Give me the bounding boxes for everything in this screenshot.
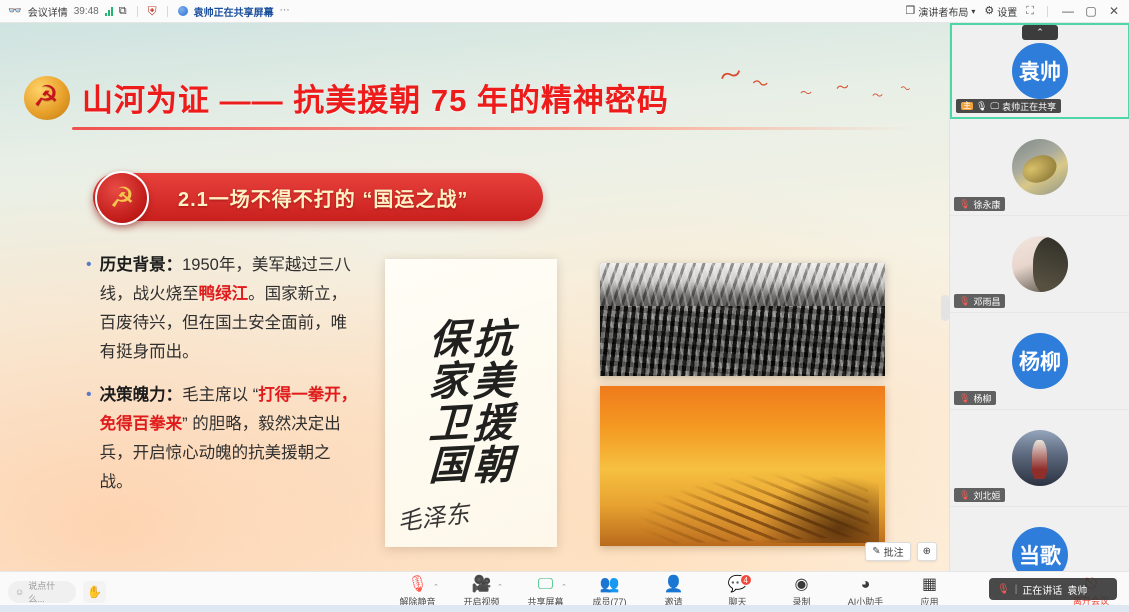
chat-unread-badge: 4 (740, 574, 752, 586)
title-bar-right: ❐ 演讲者布局 ▾ ⚙ 设置 ⛶ — ▢ ✕ (906, 4, 1129, 19)
section-banner: 2.1一场不得不打的 “国运之战” (93, 173, 543, 221)
participant-name-chip: 🎙 刘北姮 (954, 488, 1005, 502)
participant-rail[interactable]: 徐永康 +8619802181899 徐永康 +8619802181899 徐永… (949, 23, 1129, 583)
popout-window-icon[interactable]: ⧉ (119, 6, 127, 17)
divider (1047, 6, 1048, 17)
zoom-button[interactable]: ⊕ (917, 542, 937, 561)
participant-name-chip: 🎙 徐永康 (954, 197, 1005, 211)
slide-title: 山河为证 —— 抗美援朝 75 年的精神密码 (82, 75, 669, 120)
list-item: • 决策魄力：毛主席以 “打得一拳开，免得百拳来” 的胆略，毅然决定出兵，开启惊… (86, 381, 358, 497)
host-badge-icon: 主 (961, 102, 973, 110)
taskbar-strip (0, 605, 1129, 612)
mic-muted-icon: 🎙 (959, 491, 970, 500)
participant-name-chip: 🎙 杨柳 (954, 391, 996, 405)
share-active-icon[interactable]: ⛨ (148, 5, 157, 17)
mic-muted-icon: 🎙 (407, 575, 427, 594)
settings-label: 设置 (997, 4, 1017, 19)
layout-icon: ❐ (906, 6, 916, 17)
layout-label: 演讲者布局 (918, 4, 968, 19)
annotation-controls: ✎ 批注 ⊕ (865, 542, 937, 561)
close-button[interactable]: ✕ (1107, 4, 1121, 18)
river-crossing-sunset-photo (600, 386, 885, 546)
participants-button[interactable]: 👥 成员(77) (587, 575, 632, 608)
calligraphy-char: 朝 (472, 444, 514, 488)
bullet-lead: 决策魄力： (100, 386, 183, 404)
speaking-indicator: 🎙 | 正在讲话 袁帅 (989, 578, 1117, 600)
emoji-icon: ☺ (15, 587, 24, 597)
more-dots-icon[interactable]: ⋯ (280, 6, 290, 16)
list-item: • 历史背景：1950年，美军越过三八线，战火烧至鸭绿江。国家新立，百废待兴，但… (86, 251, 358, 367)
chat-button[interactable]: 💬 聊天 4 (715, 575, 760, 608)
bullet-marker: • (86, 251, 92, 367)
tool-buttons: 🎙 解除静音 ⌃ 🎥 开启视频 ⌃ 🖵 共享屏幕 ⌃ 👥 成员(77) 👤 邀请 (395, 575, 952, 608)
participant-tile-2[interactable]: 🎙 邓雨昌 (950, 216, 1129, 313)
avatar (1012, 139, 1068, 195)
mic-muted-icon: 🎙 (959, 394, 970, 403)
camera-toggle-button[interactable]: 🎥 开启视频 ⌃ (459, 575, 504, 608)
participants-icon: 👥 (600, 575, 620, 594)
share-screen-button[interactable]: 🖵 共享屏幕 ⌃ (523, 575, 568, 608)
chevron-up-icon[interactable]: ⌃ (561, 583, 567, 591)
calligraphy-char: 保 (428, 318, 470, 362)
magnifier-plus-icon: ⊕ (923, 546, 931, 557)
chevron-up-icon[interactable]: ⌃ (433, 583, 439, 591)
chevron-down-icon: ▾ (971, 7, 975, 16)
avatar (1012, 236, 1068, 292)
meeting-window: 👓 会议详情 39:48 ⧉ ⛨ 袁帅正在共享屏幕 ⋯ ❐ 演讲者布局 ▾ ⚙ … (0, 0, 1129, 612)
participant-tile-4[interactable]: 🎙 刘北姮 (950, 410, 1129, 507)
mic-on-icon: 🎙 (976, 102, 987, 111)
invite-button[interactable]: 👤 邀请 (651, 575, 696, 608)
record-button[interactable]: ◉ 录制 (779, 575, 824, 608)
participant-name: 邓雨昌 (973, 295, 1000, 308)
divider (137, 6, 138, 17)
title-underline (72, 127, 912, 130)
stage-scrollbar[interactable] (941, 295, 949, 321)
participant-tile-1[interactable]: 🎙 徐永康 (950, 119, 1129, 216)
message-input[interactable]: ☺ 说点什么... (8, 581, 76, 603)
bullet-highlight: 鸭绿江 (199, 285, 249, 303)
sharer-status-text: 袁帅正在共享屏幕 (194, 4, 274, 19)
annotate-button[interactable]: ✎ 批注 (865, 542, 910, 561)
mic-muted-icon: 🎙 (959, 297, 970, 306)
participant-name-chip: 🎙 邓雨昌 (954, 294, 1005, 308)
birds-decoration: 〜 〜 〜 〜 〜 〜 (700, 63, 940, 113)
speaking-label: 正在讲话 (1022, 582, 1062, 597)
apps-button[interactable]: ▦ 应用 (907, 575, 952, 608)
speaking-name: 袁帅 (1067, 582, 1087, 597)
avatar: 袁帅 (1012, 43, 1068, 99)
avatar (1012, 430, 1068, 486)
party-emblem-icon: ☭ (24, 76, 70, 120)
bullet-text: 决策魄力：毛主席以 “打得一拳开，免得百拳来” 的胆略，毅然决定出兵，开启惊心动… (100, 381, 358, 497)
shared-screen-stage[interactable]: 〜 〜 〜 〜 〜 〜 ☭ 山河为证 —— 抗美援朝 75 年的精神密码 2.1… (0, 23, 949, 571)
mic-toggle-button[interactable]: 🎙 解除静音 ⌃ (395, 575, 440, 608)
pencil-icon: ✎ (872, 546, 880, 557)
layout-switcher[interactable]: ❐ 演讲者布局 ▾ (906, 4, 976, 19)
participant-name: 杨柳 (973, 392, 991, 405)
title-bar-left: 👓 会议详情 39:48 ⧉ ⛨ 袁帅正在共享屏幕 ⋯ (0, 4, 290, 19)
slide-title-row: ☭ 山河为证 —— 抗美援朝 75 年的精神密码 (24, 75, 669, 120)
settings-button[interactable]: ⚙ 设置 (984, 4, 1017, 19)
maximize-button[interactable]: ▢ (1084, 4, 1098, 18)
camera-off-icon: 🎥 (472, 575, 492, 594)
screen-share-icon: 🖵 (538, 575, 553, 594)
minimize-button[interactable]: — (1061, 4, 1075, 18)
ai-assistant-icon: ◕ (861, 575, 871, 594)
calligraphy-image: 抗 美 援 朝 保 家 卫 国 毛泽东 (385, 259, 557, 547)
calligraphy-column-right: 抗 美 援 朝 (473, 319, 513, 487)
bullet-marker: • (86, 381, 92, 497)
chevron-up-icon[interactable]: ⌃ (497, 583, 503, 591)
binoculars-icon: 👓 (8, 6, 22, 17)
participant-name: 刘北姮 (973, 489, 1000, 502)
bullet-lead: 历史背景： (100, 256, 183, 274)
bullet-list: • 历史背景：1950年，美军越过三八线，战火烧至鸭绿江。国家新立，百废待兴，但… (86, 251, 358, 511)
calligraphy-char: 援 (472, 402, 514, 446)
divider (167, 6, 168, 17)
mic-muted-icon: 🎙 (997, 584, 1010, 595)
participant-name: 袁帅正在共享 (1002, 100, 1056, 113)
calligraphy-char: 家 (428, 360, 470, 404)
screen-share-icon: 🖵 (990, 102, 999, 111)
chevron-up-icon[interactable]: ⌃ (1022, 25, 1058, 40)
bullet-text: 历史背景：1950年，美军越过三八线，战火烧至鸭绿江。国家新立，百废待兴，但在国… (100, 251, 358, 367)
ai-assistant-button[interactable]: ◕ AI小助手 (843, 575, 888, 608)
calligraphy-column-left: 保 家 卫 国 (429, 319, 469, 487)
raise-hand-icon[interactable]: ✋ (83, 581, 106, 603)
calligraphy-signature: 毛泽东 (395, 494, 471, 538)
calligraphy-char: 国 (428, 444, 470, 488)
meeting-info-label[interactable]: 会议详情 (28, 4, 68, 19)
participant-name: 徐永康 (973, 198, 1000, 211)
record-icon: ◉ (795, 575, 809, 594)
participant-name-chip: 主 🎙 🖵 袁帅正在共享 (956, 99, 1061, 113)
troops-crossing-bw-photo (600, 263, 885, 376)
invite-person-icon: 👤 (664, 575, 684, 594)
hammer-sickle-icon: ☭ (95, 171, 149, 225)
calligraphy-char: 抗 (472, 318, 514, 362)
meeting-timer: 39:48 (74, 6, 99, 17)
sharer-avatar (178, 6, 188, 16)
title-bar: 👓 会议详情 39:48 ⧉ ⛨ 袁帅正在共享屏幕 ⋯ ❐ 演讲者布局 ▾ ⚙ … (0, 0, 1129, 23)
signal-bars-icon[interactable] (105, 7, 113, 16)
message-placeholder: 说点什么... (28, 579, 69, 605)
calligraphy-char: 美 (472, 360, 514, 404)
bullet-text-before: 毛主席以 “ (182, 386, 258, 404)
mic-muted-icon: 🎙 (959, 200, 970, 209)
participant-tile-3[interactable]: 杨柳 🎙 杨柳 (950, 313, 1129, 410)
section-heading: 2.1一场不得不打的 “国运之战” (178, 183, 468, 212)
annotate-label: 批注 (884, 544, 904, 559)
gear-icon: ⚙ (984, 6, 994, 17)
fullscreen-icon[interactable]: ⛶ (1026, 6, 1034, 17)
calligraphy-char: 卫 (428, 402, 470, 446)
avatar: 杨柳 (1012, 333, 1068, 389)
apps-grid-icon: ▦ (922, 575, 937, 594)
